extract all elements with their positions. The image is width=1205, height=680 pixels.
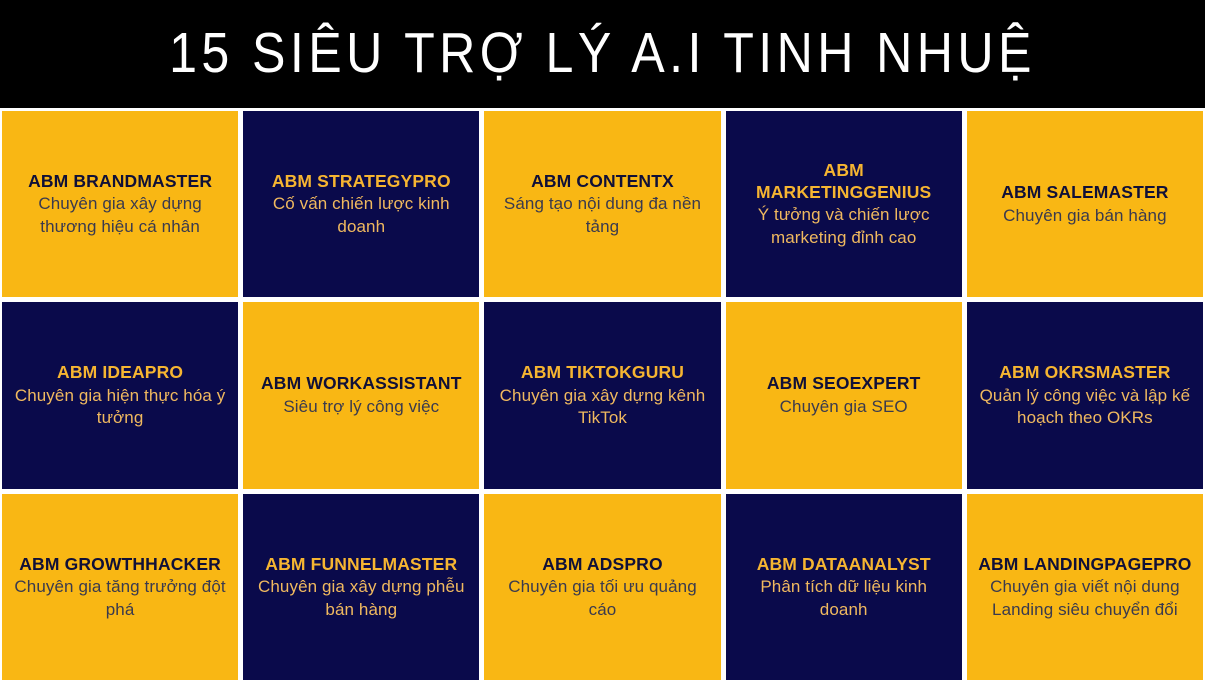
assistant-card[interactable]: ABM SALEMASTERChuyên gia bán hàng [967, 111, 1203, 297]
assistant-card-description: Chuyên gia SEO [780, 396, 908, 419]
assistant-card-title: ABM DATAANALYST [757, 553, 931, 575]
assistant-card-description: Chuyên gia hiện thực hóa ý tưởng [12, 385, 228, 430]
assistant-card[interactable]: ABM CONTENTXSáng tạo nội dung đa nền tản… [484, 111, 720, 297]
assistant-card-title: ABM TIKTOKGURU [521, 361, 684, 383]
assistant-card-description: Quản lý công việc và lập kế hoạch theo O… [977, 385, 1193, 430]
assistant-card-title: ABM STRATEGYPRO [272, 170, 451, 192]
assistant-card[interactable]: ABM LANDINGPAGEPROChuyên gia viết nội du… [967, 494, 1203, 680]
assistant-card-description: Chuyên gia xây dựng phễu bán hàng [253, 576, 469, 621]
assistant-card[interactable]: ABM ADSPROChuyên gia tối ưu quảng cáo [484, 494, 720, 680]
assistant-card[interactable]: ABM SEOEXPERTChuyên gia SEO [726, 302, 962, 488]
assistant-card-description: Chuyên gia xây dựng thương hiệu cá nhân [12, 193, 228, 238]
assistant-card-description: Chuyên gia tăng trưởng đột phá [12, 576, 228, 621]
assistant-card-description: Chuyên gia bán hàng [1003, 205, 1167, 228]
assistant-card[interactable]: ABM TIKTOKGURUChuyên gia xây dựng kênh T… [484, 302, 720, 488]
assistant-card-title: ABM OKRSMASTER [999, 361, 1170, 383]
assistant-card-title: ABM ADSPRO [542, 553, 662, 575]
assistant-card-description: Ý tưởng và chiến lược marketing đỉnh cao [736, 204, 952, 249]
assistant-card-description: Chuyên gia tối ưu quảng cáo [494, 576, 710, 621]
assistant-card-title: ABM MARKETINGGENIUS [736, 159, 952, 204]
assistant-card-description: Siêu trợ lý công việc [283, 396, 439, 419]
page-title: 15 SIÊU TRỢ LÝ A.I TINH NHUỆ [169, 24, 1036, 84]
assistant-card-title: ABM SALEMASTER [1001, 181, 1168, 203]
assistant-card[interactable]: ABM STRATEGYPROCố vấn chiến lược kinh do… [243, 111, 479, 297]
assistant-card-title: ABM SEOEXPERT [767, 372, 921, 394]
assistant-card-description: Sáng tạo nội dung đa nền tảng [494, 193, 710, 238]
assistant-card-title: ABM WORKASSISTANT [261, 372, 462, 394]
assistant-card-title: ABM LANDINGPAGEPRO [978, 553, 1191, 575]
assistant-card[interactable]: ABM MARKETINGGENIUSÝ tưởng và chiến lược… [726, 111, 962, 297]
assistant-card[interactable]: ABM IDEAPROChuyên gia hiện thực hóa ý tư… [2, 302, 238, 488]
assistant-card-title: ABM BRANDMASTER [28, 170, 212, 192]
assistant-card-title: ABM FUNNELMASTER [265, 553, 457, 575]
assistant-card-grid: ABM BRANDMASTERChuyên gia xây dựng thươn… [0, 108, 1205, 680]
assistant-card-description: Chuyên gia viết nội dung Landing siêu ch… [977, 576, 1193, 621]
assistant-card-description: Phân tích dữ liệu kinh doanh [736, 576, 952, 621]
assistant-card-description: Cố vấn chiến lược kinh doanh [253, 193, 469, 238]
assistant-card[interactable]: ABM GROWTHHACKERChuyên gia tăng trưởng đ… [2, 494, 238, 680]
assistant-card[interactable]: ABM OKRSMASTERQuản lý công việc và lập k… [967, 302, 1203, 488]
assistant-card-title: ABM GROWTHHACKER [19, 553, 221, 575]
assistant-card[interactable]: ABM FUNNELMASTERChuyên gia xây dựng phễu… [243, 494, 479, 680]
assistant-card-description: Chuyên gia xây dựng kênh TikTok [494, 385, 710, 430]
assistant-card[interactable]: ABM WORKASSISTANTSiêu trợ lý công việc [243, 302, 479, 488]
poster-root: 15 SIÊU TRỢ LÝ A.I TINH NHUỆ ABM BRANDMA… [0, 0, 1205, 680]
assistant-card-title: ABM IDEAPRO [57, 361, 183, 383]
assistant-card[interactable]: ABM DATAANALYSTPhân tích dữ liệu kinh do… [726, 494, 962, 680]
header-band: 15 SIÊU TRỢ LÝ A.I TINH NHUỆ [0, 0, 1205, 108]
assistant-card[interactable]: ABM BRANDMASTERChuyên gia xây dựng thươn… [2, 111, 238, 297]
assistant-card-title: ABM CONTENTX [531, 170, 674, 192]
